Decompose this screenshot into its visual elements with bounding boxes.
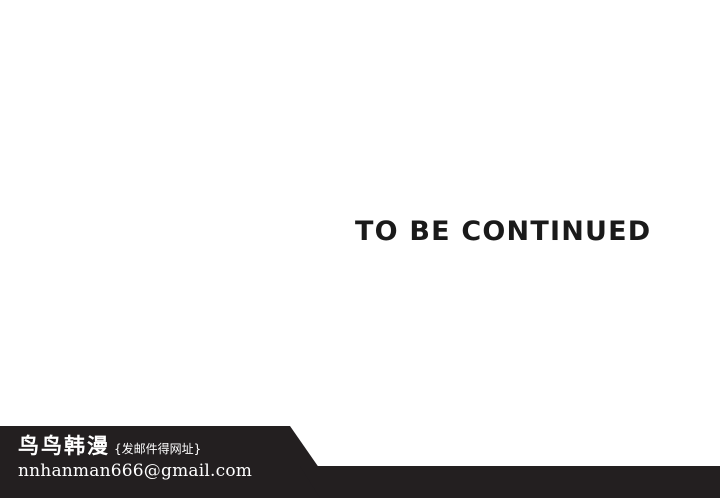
watermark-banner: 鸟鸟韩漫 {发邮件得网址} nnhanman666@gmail.com xyxy=(0,426,720,498)
watermark-text-group: 鸟鸟韩漫 {发邮件得网址} nnhanman666@gmail.com xyxy=(18,434,318,481)
brand-name: 鸟鸟韩漫 xyxy=(18,434,110,458)
comic-page: TO BE CONTINUED 鸟鸟韩漫 {发邮件得网址} nnhanman66… xyxy=(0,0,720,498)
brand-tagline: {发邮件得网址} xyxy=(114,443,201,457)
contact-email: nnhanman666@gmail.com xyxy=(18,461,318,481)
page-title: TO BE CONTINUED xyxy=(355,218,651,245)
brand-line: 鸟鸟韩漫 {发邮件得网址} xyxy=(18,434,318,458)
